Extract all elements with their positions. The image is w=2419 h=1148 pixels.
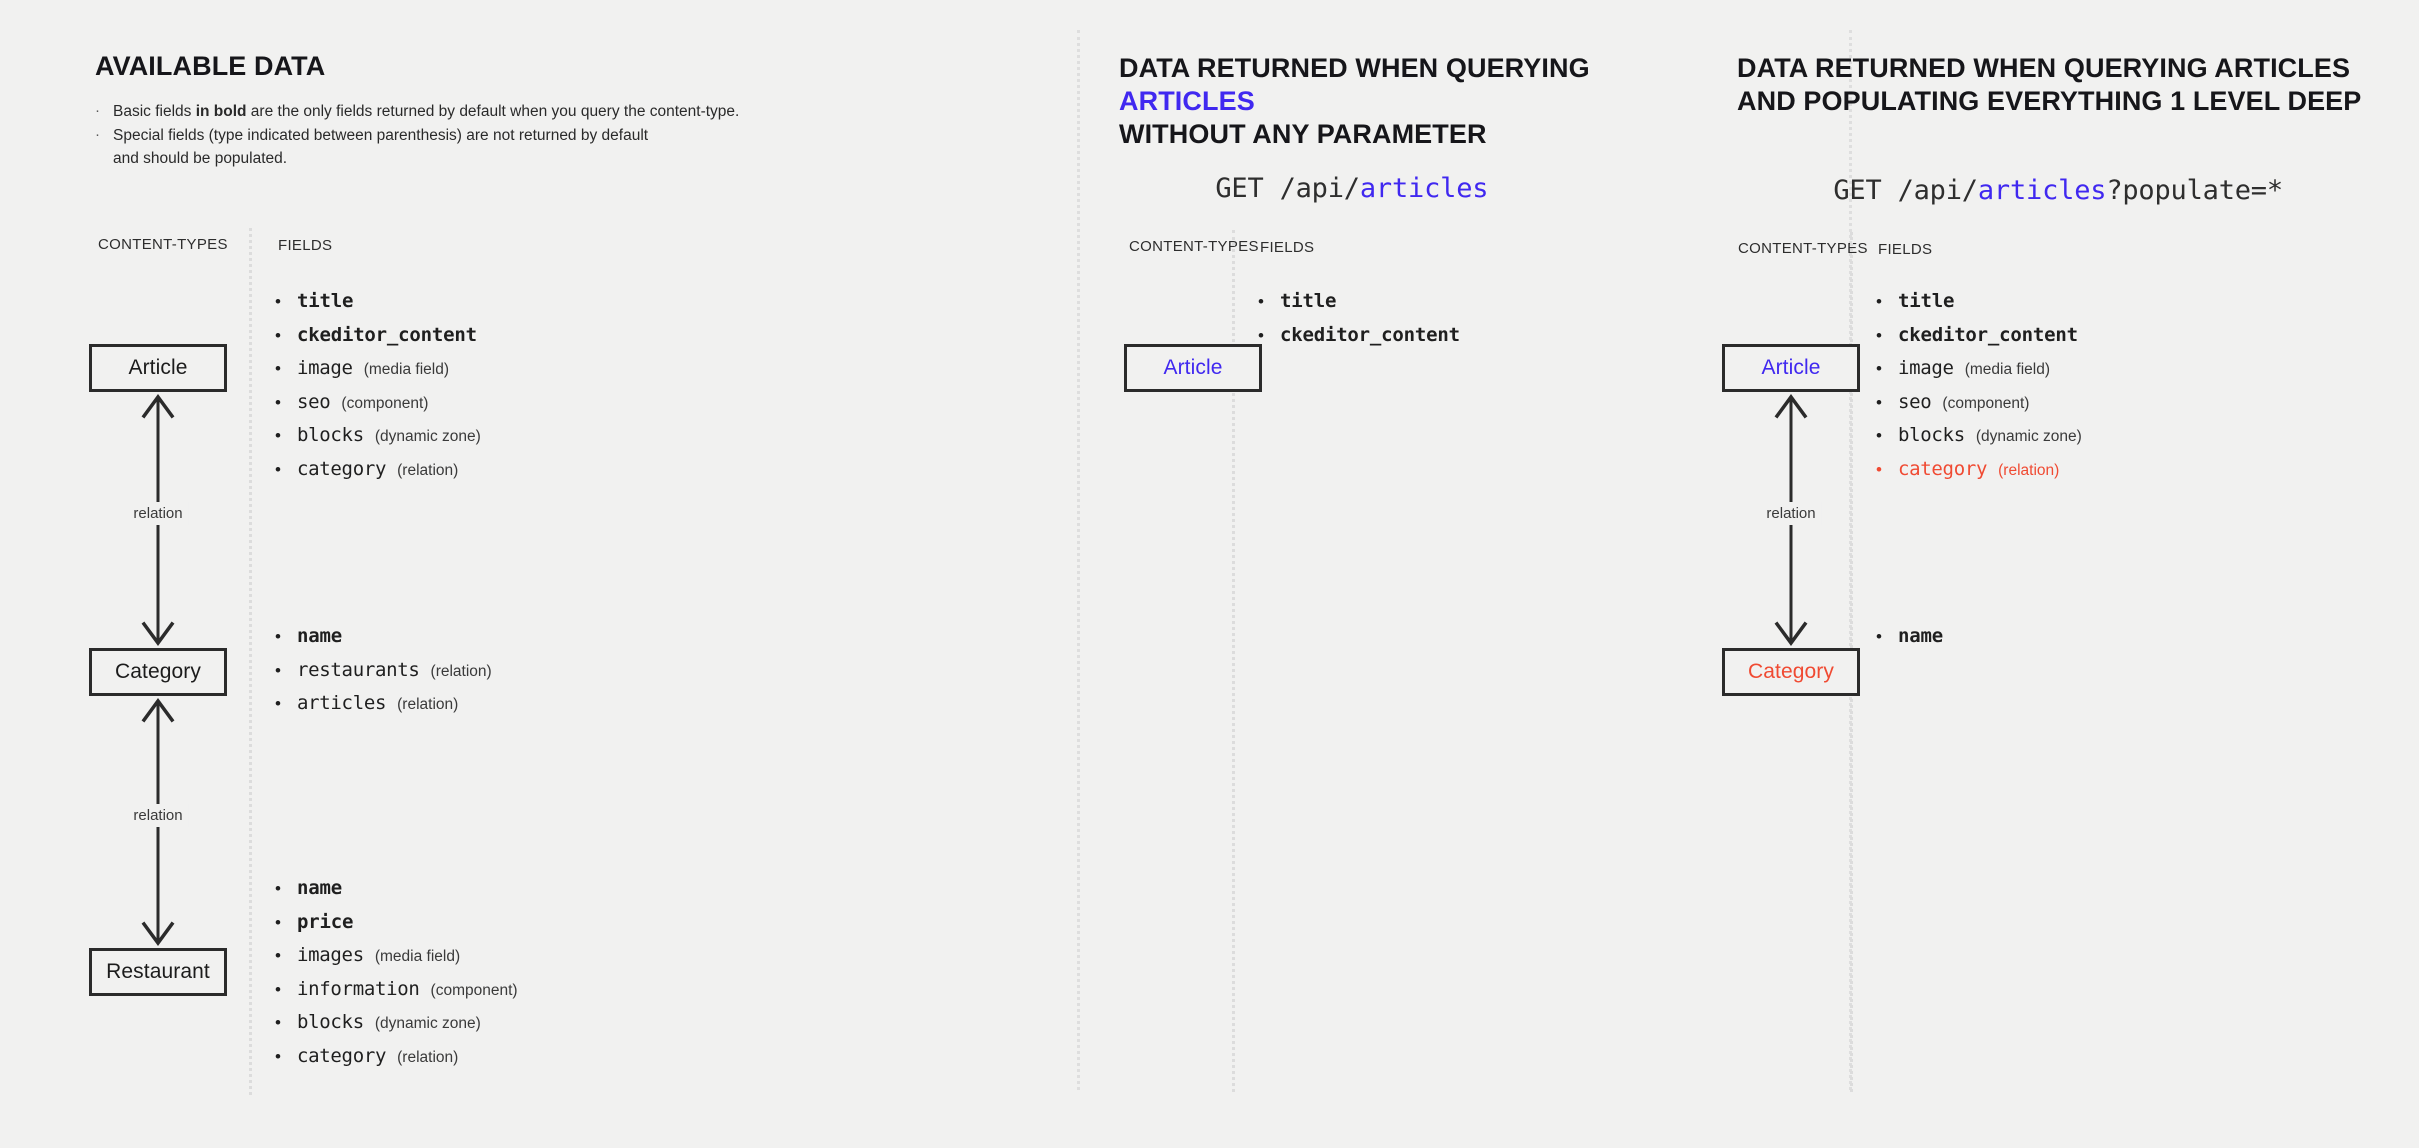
field-name: blocks: [297, 424, 364, 446]
bullet-icon: ·: [95, 100, 113, 124]
panel-available-data: AVAILABLE DATA · Basic fields in bold ar…: [0, 0, 1080, 1148]
field-name: price: [297, 911, 353, 933]
field-name: name: [297, 625, 342, 647]
note-text-after: are the only fields returned by default …: [247, 103, 740, 120]
panel-3-label-fields: FIELDS: [1878, 241, 1932, 258]
panel-2-endpoint: GET /api/articles: [1119, 142, 1488, 235]
connector-article-category: relation: [1761, 392, 1821, 648]
bullet-icon: •: [275, 293, 297, 310]
field-row: • seo (component): [275, 391, 488, 425]
panel-3-heading: DATA RETURNED WHEN QUERYING ARTICLES AND…: [1737, 52, 2397, 118]
field-type: (component): [431, 982, 518, 1000]
panel-query-populate-all: DATA RETURNED WHEN QUERYING ARTICLES AND…: [1700, 0, 2419, 1148]
panel-query-without-parameter: DATA RETURNED WHEN QUERYING ARTICLES WIT…: [1080, 0, 1700, 1148]
entity-box-article[interactable]: Article: [1722, 344, 1860, 392]
endpoint-query-suffix: ?populate=*: [2106, 175, 2283, 206]
field-name: title: [297, 290, 353, 312]
field-type: (media field): [1965, 361, 2050, 379]
field-list-article: • title • ckeditor_content • image (medi…: [275, 290, 488, 491]
field-type: (component): [1942, 395, 2029, 413]
field-type: (relation): [431, 663, 492, 681]
panel-2-label-fields: FIELDS: [1260, 239, 1314, 256]
field-row: • articles (relation): [275, 692, 492, 726]
bullet-icon: •: [275, 662, 297, 679]
panel-1-label-content-types: CONTENT-TYPES: [98, 236, 228, 253]
bullet-icon: •: [275, 327, 297, 344]
panel-2-heading: DATA RETURNED WHEN QUERYING ARTICLES WIT…: [1119, 52, 1699, 151]
field-name: ckeditor_content: [1898, 324, 2078, 346]
bullet-icon: •: [275, 981, 297, 998]
bullet-icon: •: [275, 914, 297, 931]
field-list-category: • name: [1876, 625, 1954, 659]
field-name: blocks: [297, 1011, 364, 1033]
endpoint-path-accent: articles: [1978, 175, 2106, 206]
bullet-icon: •: [1258, 293, 1280, 310]
endpoint-path-prefix: /api/: [1264, 173, 1360, 204]
field-type: (relation): [397, 1049, 458, 1067]
note-item: · Special fields (type indicated between…: [95, 124, 855, 148]
bullet-icon: •: [275, 427, 297, 444]
field-type: (relation): [1998, 462, 2059, 480]
entity-label: Article: [1163, 356, 1222, 380]
field-name: title: [1898, 290, 1954, 312]
panel-1-notes: · Basic fields in bold are the only fiel…: [95, 100, 855, 171]
field-list-restaurant: • name • price • images (media field) • …: [275, 877, 518, 1078]
entity-label: Category: [115, 660, 201, 684]
field-row: • blocks (dynamic zone): [1876, 424, 2089, 458]
bullet-icon: •: [275, 461, 297, 478]
field-row: • information (component): [275, 978, 518, 1012]
field-row: • blocks (dynamic zone): [275, 424, 488, 458]
field-name: image: [297, 357, 353, 379]
entity-box-article[interactable]: Article: [1124, 344, 1262, 392]
field-name: seo: [1898, 391, 1931, 413]
field-row: • ckeditor_content: [275, 324, 488, 358]
panel-2-label-content-types: CONTENT-TYPES: [1129, 238, 1259, 255]
field-name: ckeditor_content: [1280, 324, 1460, 346]
entity-box-category[interactable]: Category: [89, 648, 227, 696]
field-row: • restaurants (relation): [275, 659, 492, 693]
field-row: • blocks (dynamic zone): [275, 1011, 518, 1045]
entity-label: Restaurant: [106, 960, 210, 984]
panel-1-label-fields: FIELDS: [278, 237, 332, 254]
bullet-icon: •: [1876, 461, 1898, 478]
connector-category-restaurant: relation: [128, 696, 188, 948]
field-name: name: [1898, 625, 1943, 647]
relation-label: relation: [127, 502, 188, 525]
field-name: image: [1898, 357, 1954, 379]
field-type: (media field): [375, 948, 460, 966]
field-row: • seo (component): [1876, 391, 2089, 425]
bullet-icon: •: [1876, 628, 1898, 645]
field-row: • title: [1876, 290, 2089, 324]
entity-label: Category: [1748, 660, 1834, 684]
field-row-highlighted: • category (relation): [1876, 458, 2089, 492]
bullet-icon: •: [1876, 360, 1898, 377]
field-row: • name: [275, 877, 518, 911]
entity-box-restaurant[interactable]: Restaurant: [89, 948, 227, 996]
field-name: blocks: [1898, 424, 1965, 446]
panel-3-label-content-types: CONTENT-TYPES: [1738, 240, 1868, 257]
bullet-icon: •: [275, 360, 297, 377]
panel-1-heading: AVAILABLE DATA: [95, 50, 325, 83]
panel-2-heading-accent: ARTICLES: [1119, 86, 1255, 116]
note-text-before: Basic fields: [113, 103, 196, 120]
field-name: restaurants: [297, 659, 420, 681]
field-name: seo: [297, 391, 330, 413]
diagram-canvas: AVAILABLE DATA · Basic fields in bold ar…: [0, 0, 2419, 1148]
field-list-category: • name • restaurants (relation) • articl…: [275, 625, 492, 726]
entity-box-article[interactable]: Article: [89, 344, 227, 392]
connector-article-category: relation: [128, 392, 188, 648]
field-row: • price: [275, 911, 518, 945]
field-name: category: [1898, 458, 1987, 480]
field-name: title: [1280, 290, 1336, 312]
field-row: • name: [275, 625, 492, 659]
bullet-icon: •: [1876, 293, 1898, 310]
field-row: • ckeditor_content: [1258, 324, 1471, 358]
note-text-bold: in bold: [196, 103, 247, 120]
field-type: (dynamic zone): [375, 1015, 481, 1033]
field-type: (media field): [364, 361, 449, 379]
panel-1-inner-divider: [249, 228, 252, 1095]
panel-1-heading-text: AVAILABLE DATA: [95, 51, 325, 81]
bullet-icon: •: [275, 394, 297, 411]
endpoint-path-prefix: /api/: [1882, 175, 1978, 206]
field-type: (relation): [397, 696, 458, 714]
field-name: articles: [297, 692, 386, 714]
field-type: (component): [341, 395, 428, 413]
relation-label: relation: [1760, 502, 1821, 525]
bullet-icon: •: [275, 1014, 297, 1031]
field-row: • name: [1876, 625, 1954, 659]
field-row: • images (media field): [275, 944, 518, 978]
bullet-icon: •: [275, 1048, 297, 1065]
field-row: • category (relation): [275, 458, 488, 492]
bullet-icon: •: [275, 628, 297, 645]
bullet-icon: ·: [95, 124, 113, 148]
bullet-icon: •: [275, 947, 297, 964]
field-name: category: [297, 458, 386, 480]
note-item: · Basic fields in bold are the only fiel…: [95, 100, 855, 124]
field-row: • image (media field): [1876, 357, 2089, 391]
panel-3-endpoint: GET /api/articles?populate=*: [1737, 144, 2283, 237]
bullet-icon: •: [1876, 327, 1898, 344]
entity-label: Article: [128, 356, 187, 380]
field-row: • image (media field): [275, 357, 488, 391]
field-list-article: • title • ckeditor_content • image (medi…: [1876, 290, 2089, 491]
field-row: • title: [1258, 290, 1471, 324]
http-method: GET: [1833, 175, 1881, 206]
field-name: information: [297, 978, 420, 1000]
field-list-article: • title • ckeditor_content: [1258, 290, 1471, 357]
entity-box-category[interactable]: Category: [1722, 648, 1860, 696]
note-text: Special fields (type indicated between p…: [113, 124, 648, 148]
field-type: (dynamic zone): [375, 428, 481, 446]
field-name: name: [297, 877, 342, 899]
bullet-icon: •: [275, 695, 297, 712]
field-row: • ckeditor_content: [1876, 324, 2089, 358]
entity-label: Article: [1761, 356, 1820, 380]
field-name: images: [297, 944, 364, 966]
bullet-icon: •: [1876, 394, 1898, 411]
field-row: • title: [275, 290, 488, 324]
field-name: ckeditor_content: [297, 324, 477, 346]
note-text: and should be populated.: [113, 147, 287, 171]
note-text: Basic fields in bold are the only fields…: [113, 100, 739, 124]
field-type: (dynamic zone): [1976, 428, 2082, 446]
bullet-icon: •: [275, 880, 297, 897]
spacer: [95, 147, 113, 171]
bullet-icon: •: [1876, 427, 1898, 444]
note-item-continuation: and should be populated.: [95, 147, 855, 171]
relation-label: relation: [127, 804, 188, 827]
panel-3-heading-line2: AND POPULATING EVERYTHING 1 LEVEL DEEP: [1737, 86, 2361, 116]
field-type: (relation): [397, 462, 458, 480]
bullet-icon: •: [1258, 327, 1280, 344]
field-name: category: [297, 1045, 386, 1067]
field-row: • category (relation): [275, 1045, 518, 1079]
endpoint-path-accent: articles: [1360, 173, 1488, 204]
http-method: GET: [1215, 173, 1263, 204]
panel-3-heading-prefix: DATA RETURNED WHEN QUERYING ARTICLES: [1737, 53, 2350, 83]
panel-2-heading-prefix: DATA RETURNED WHEN QUERYING: [1119, 53, 1590, 83]
